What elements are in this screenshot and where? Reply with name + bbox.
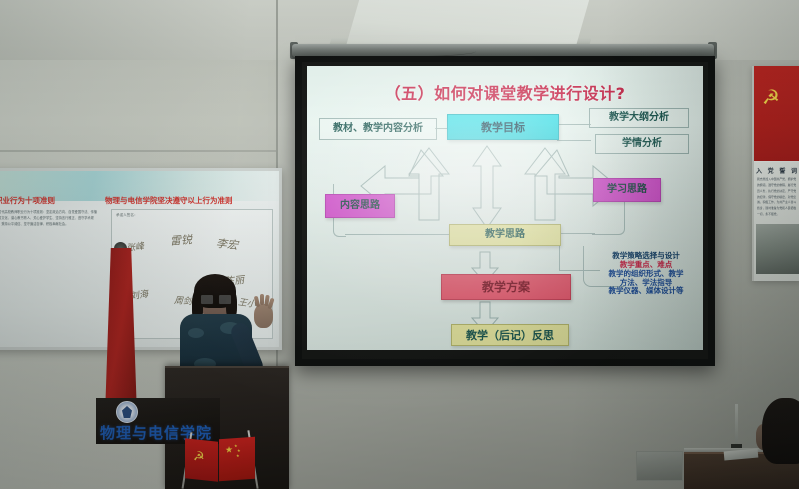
presenter-hand	[254, 304, 273, 328]
box-learning-thread[interactable]: 学习思路	[593, 178, 661, 202]
party-oath-body: 我志愿加入中国共产党，拥护党的纲领，遵守党的章程，履行党员义务，执行党的决定，严…	[757, 177, 798, 218]
hammer-sickle-icon: ☭	[762, 88, 786, 112]
ceiling-light-panel	[345, 0, 589, 50]
star-icon: ★	[236, 453, 240, 458]
party-oath-poster: ☭ 入 党 誓 词 我志愿加入中国共产党，拥护党的纲领，遵守党的章程，履行党员义…	[752, 66, 799, 281]
glasses-icon	[200, 294, 230, 303]
party-oath-title: 入 党 誓 词	[754, 166, 799, 175]
box-material-analysis[interactable]: 教材、教学内容分析	[319, 118, 437, 140]
hammer-sickle-icon: ☭	[193, 449, 205, 463]
connector-line	[557, 124, 591, 125]
audience-member	[762, 398, 799, 464]
university-crest-icon	[116, 401, 138, 423]
box-teaching-reflection[interactable]: 教学（后记）反思	[451, 324, 569, 346]
wall-seam-horizontal	[0, 150, 276, 152]
box-teaching-plan[interactable]: 教学方案	[441, 274, 571, 300]
box-teaching-goal[interactable]: 教学目标	[447, 114, 559, 140]
box-syllabus-analysis[interactable]: 教学大纲分析	[589, 108, 689, 128]
slide-title: （五）如何对课堂教学进行设计?	[307, 80, 703, 104]
box-student-analysis[interactable]: 学情分析	[595, 134, 689, 154]
arrow-double-vertical	[470, 144, 504, 230]
arrow-up-left-inner	[399, 144, 459, 224]
box-teaching-thread[interactable]: 教学思路	[449, 224, 561, 246]
connector-line	[345, 234, 453, 235]
party-oath-panel: 入 党 誓 词 我志愿加入中国共产党，拥护党的纲领，遵守党的章程，履行党员义务，…	[754, 162, 799, 281]
party-flag-banner: ☭	[754, 66, 799, 161]
national-flag: ★ ★ ★ ★	[219, 437, 255, 482]
lecture-hall-photo: 职业行为十项准则 物理与电信学院坚决遵守以上行为准则 新时代高校教师职业行为十项…	[0, 0, 799, 489]
signature-label: 承诺人签名：	[116, 213, 138, 218]
star-icon: ★	[225, 445, 233, 455]
projected-slide: （五）如何对课堂教学进行设计?	[307, 66, 703, 350]
connector-line	[557, 140, 591, 141]
party-flag: ☭	[185, 438, 218, 481]
poster-left-title: 职业行为十项准则	[0, 195, 119, 206]
wall-vent	[636, 451, 683, 481]
party-oath-photo	[756, 224, 799, 274]
poster-right-title: 物理与电信学院坚决遵守以上行为准则	[105, 195, 275, 206]
signature-item: 雷锐	[169, 231, 192, 248]
box-content-thread[interactable]: 内容思路	[325, 194, 395, 218]
signature-item: 李宏	[215, 235, 239, 253]
strategy-line-5: 教学仪器、媒体设计等	[592, 287, 700, 296]
poster-body-text: 新时代高校教师职业行为十项准则：坚定政治方向、自觉爱国守法、传播优秀文化、潜心教…	[0, 209, 99, 319]
strategy-text-block: 教学策略选择与设计 教学重点、难点 教学的组织形式、教学 方法、学法指导 教学仪…	[592, 252, 700, 296]
